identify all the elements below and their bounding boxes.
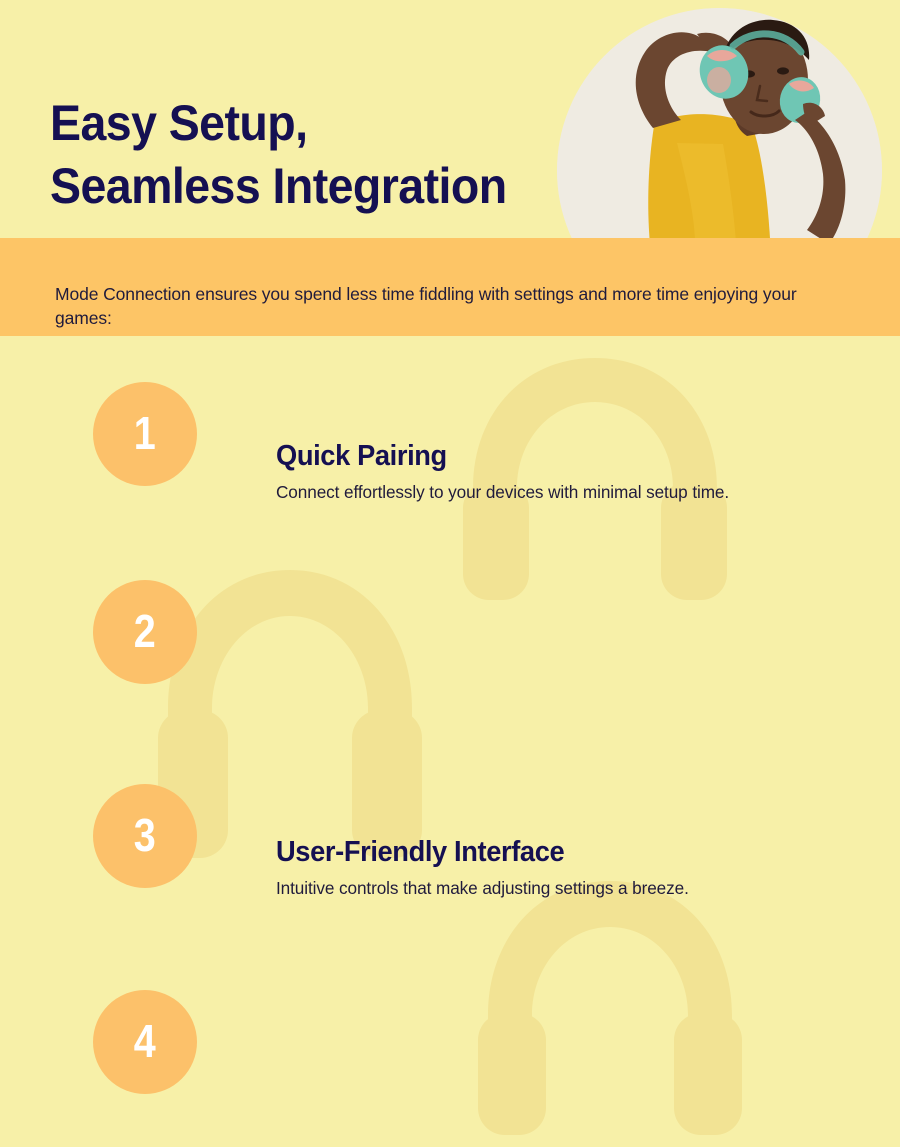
list-item-description: Connect effortlessly to your devices wit…	[276, 481, 866, 504]
list-item-badge: 2	[93, 580, 197, 684]
hero-section: Easy Setup, Seamless Integration	[0, 0, 900, 238]
list-item-number: 3	[134, 812, 156, 858]
list-item-badge: 1	[93, 382, 197, 486]
list-item-number: 2	[134, 608, 156, 654]
list-item-body: User-Friendly Interface Intuitive contro…	[276, 836, 866, 900]
list-item-badge: 3	[93, 784, 197, 888]
intro-banner-text: Mode Connection ensures you spend less t…	[55, 282, 845, 330]
list-item-badge: 4	[93, 990, 197, 1094]
infographic-page: Easy Setup, Seamless Integration Mode Co…	[0, 0, 900, 1147]
list-item-title: User-Friendly Interface	[276, 836, 831, 868]
page-title: Easy Setup, Seamless Integration	[50, 92, 507, 218]
list-item-body: Quick Pairing Connect effortlessly to yo…	[276, 440, 866, 504]
list-item-number: 4	[134, 1018, 156, 1064]
list-item-description: Intuitive controls that make adjusting s…	[276, 877, 866, 900]
intro-banner: Mode Connection ensures you spend less t…	[0, 238, 900, 336]
headphones-watermark-icon	[460, 875, 760, 1135]
list-item-number: 1	[134, 410, 156, 456]
list-item-title: Quick Pairing	[276, 440, 831, 472]
